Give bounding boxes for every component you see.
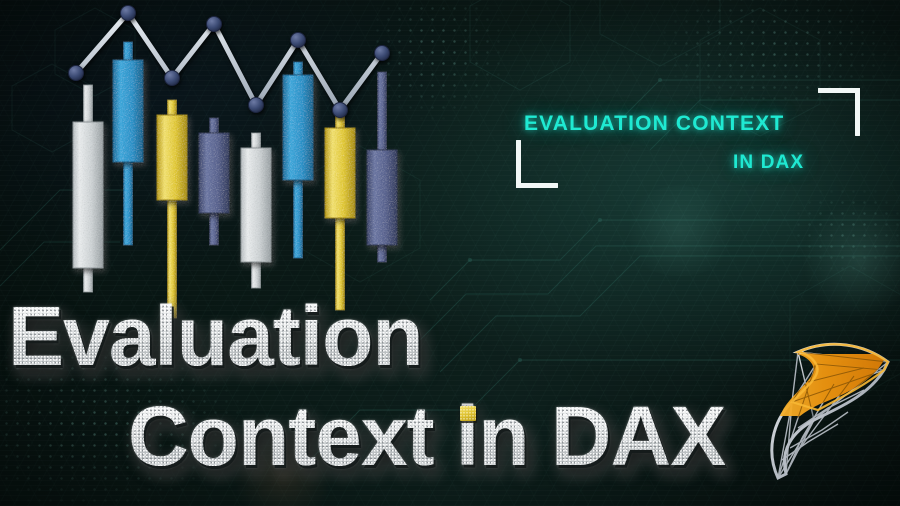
- candlestick-6: [283, 62, 313, 258]
- trend-marker-5: [249, 98, 264, 113]
- trend-marker-6: [291, 33, 306, 48]
- candlestick-5: [241, 133, 271, 288]
- poster-canvas: EVALUATION CONTEXT IN DAX Evaluation Con…: [0, 0, 900, 506]
- trend-marker-3: [165, 71, 180, 86]
- candlestick-8: [367, 72, 397, 262]
- corner-bracket-bottom-left: [516, 140, 558, 188]
- page-title-line-1: Evaluation: [8, 296, 423, 377]
- page-title-line-2: Context in DAX: [128, 396, 725, 477]
- candlestick-2: [113, 42, 143, 245]
- trend-marker-4: [207, 17, 222, 32]
- sql-server-analysis-services-logo: [768, 338, 894, 490]
- corner-bracket-top-right: [818, 88, 860, 136]
- candlestick-1: [73, 85, 103, 292]
- candlestick-7: [325, 112, 355, 310]
- trend-marker-8: [375, 46, 390, 61]
- candlestick-3: [157, 100, 187, 318]
- trend-marker-1: [69, 66, 84, 81]
- kicker-line-2: IN DAX: [733, 153, 804, 172]
- candlestick-4: [199, 118, 229, 245]
- kicker-line-1: EVALUATION CONTEXT: [524, 113, 784, 134]
- trend-marker-2: [121, 6, 136, 21]
- trend-marker-7: [333, 103, 348, 118]
- title-accent-dot: [460, 406, 476, 421]
